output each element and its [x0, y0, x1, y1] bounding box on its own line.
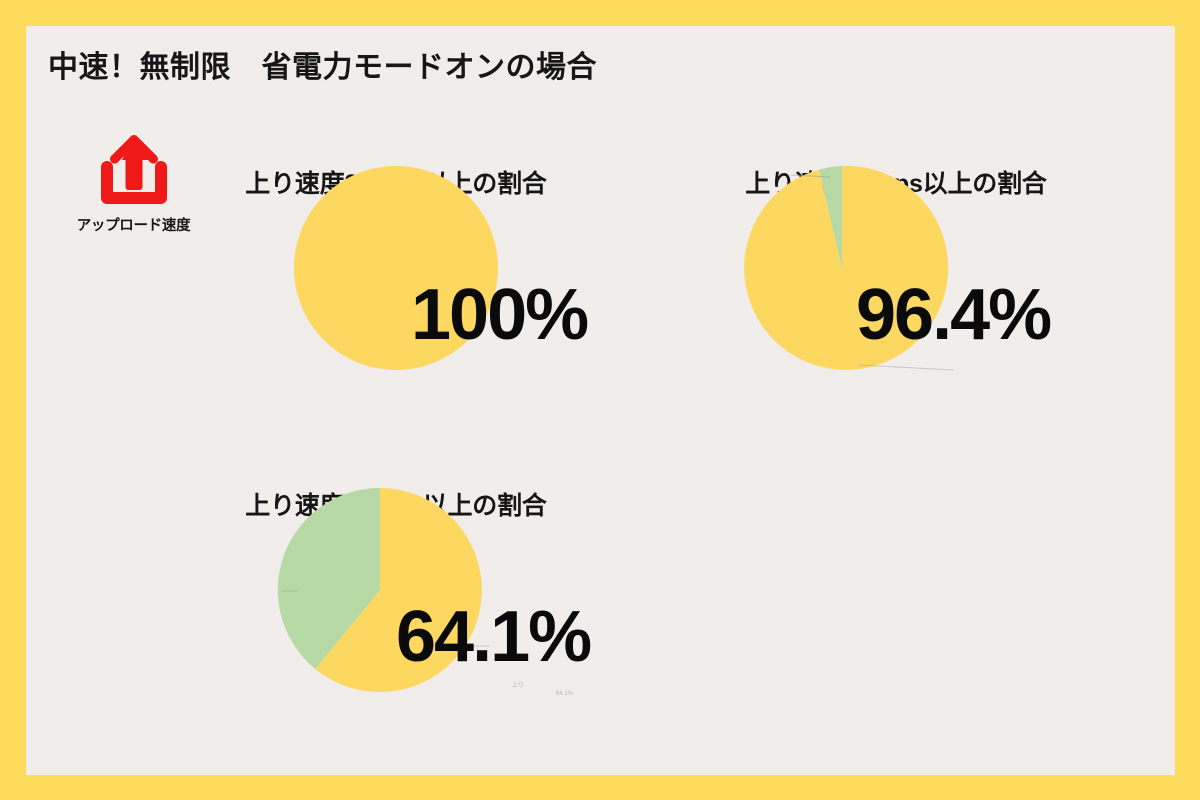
pie-value-8mbps: 64.1%: [396, 601, 590, 673]
upload-icon: [94, 130, 174, 210]
content-panel: 中速！無制限 省電力モードオンの場合 アップロード速度 上り速度3Mbps以上の…: [26, 26, 1175, 775]
pie-micro-label-8mbps: 上り: [512, 680, 524, 689]
upload-speed-label: アップロード速度: [51, 214, 216, 235]
poster-frame: 中速！無制限 省電力モードオンの場合 アップロード速度 上り速度3Mbps以上の…: [0, 0, 1200, 800]
chart-card-3mbps: 上り速度3Mbps以上の割合 100%: [216, 164, 576, 434]
leader-line-above-6mbps: [858, 365, 954, 371]
pie-value-3mbps: 100%: [411, 279, 587, 351]
chart-card-8mbps: 上り速度8Mbps以上の割合 64.1% 上り 64.1%: [216, 486, 576, 756]
upload-speed-legend: アップロード速度: [51, 130, 216, 235]
pie-micro-value-8mbps: 64.1%: [556, 691, 573, 697]
pie-value-6mbps: 96.4%: [856, 279, 1050, 351]
page-title: 中速！無制限 省電力モードオンの場合: [48, 42, 597, 86]
chart-card-6mbps: 上り速度6Mbps以上の割合 96.4%: [686, 164, 1106, 434]
